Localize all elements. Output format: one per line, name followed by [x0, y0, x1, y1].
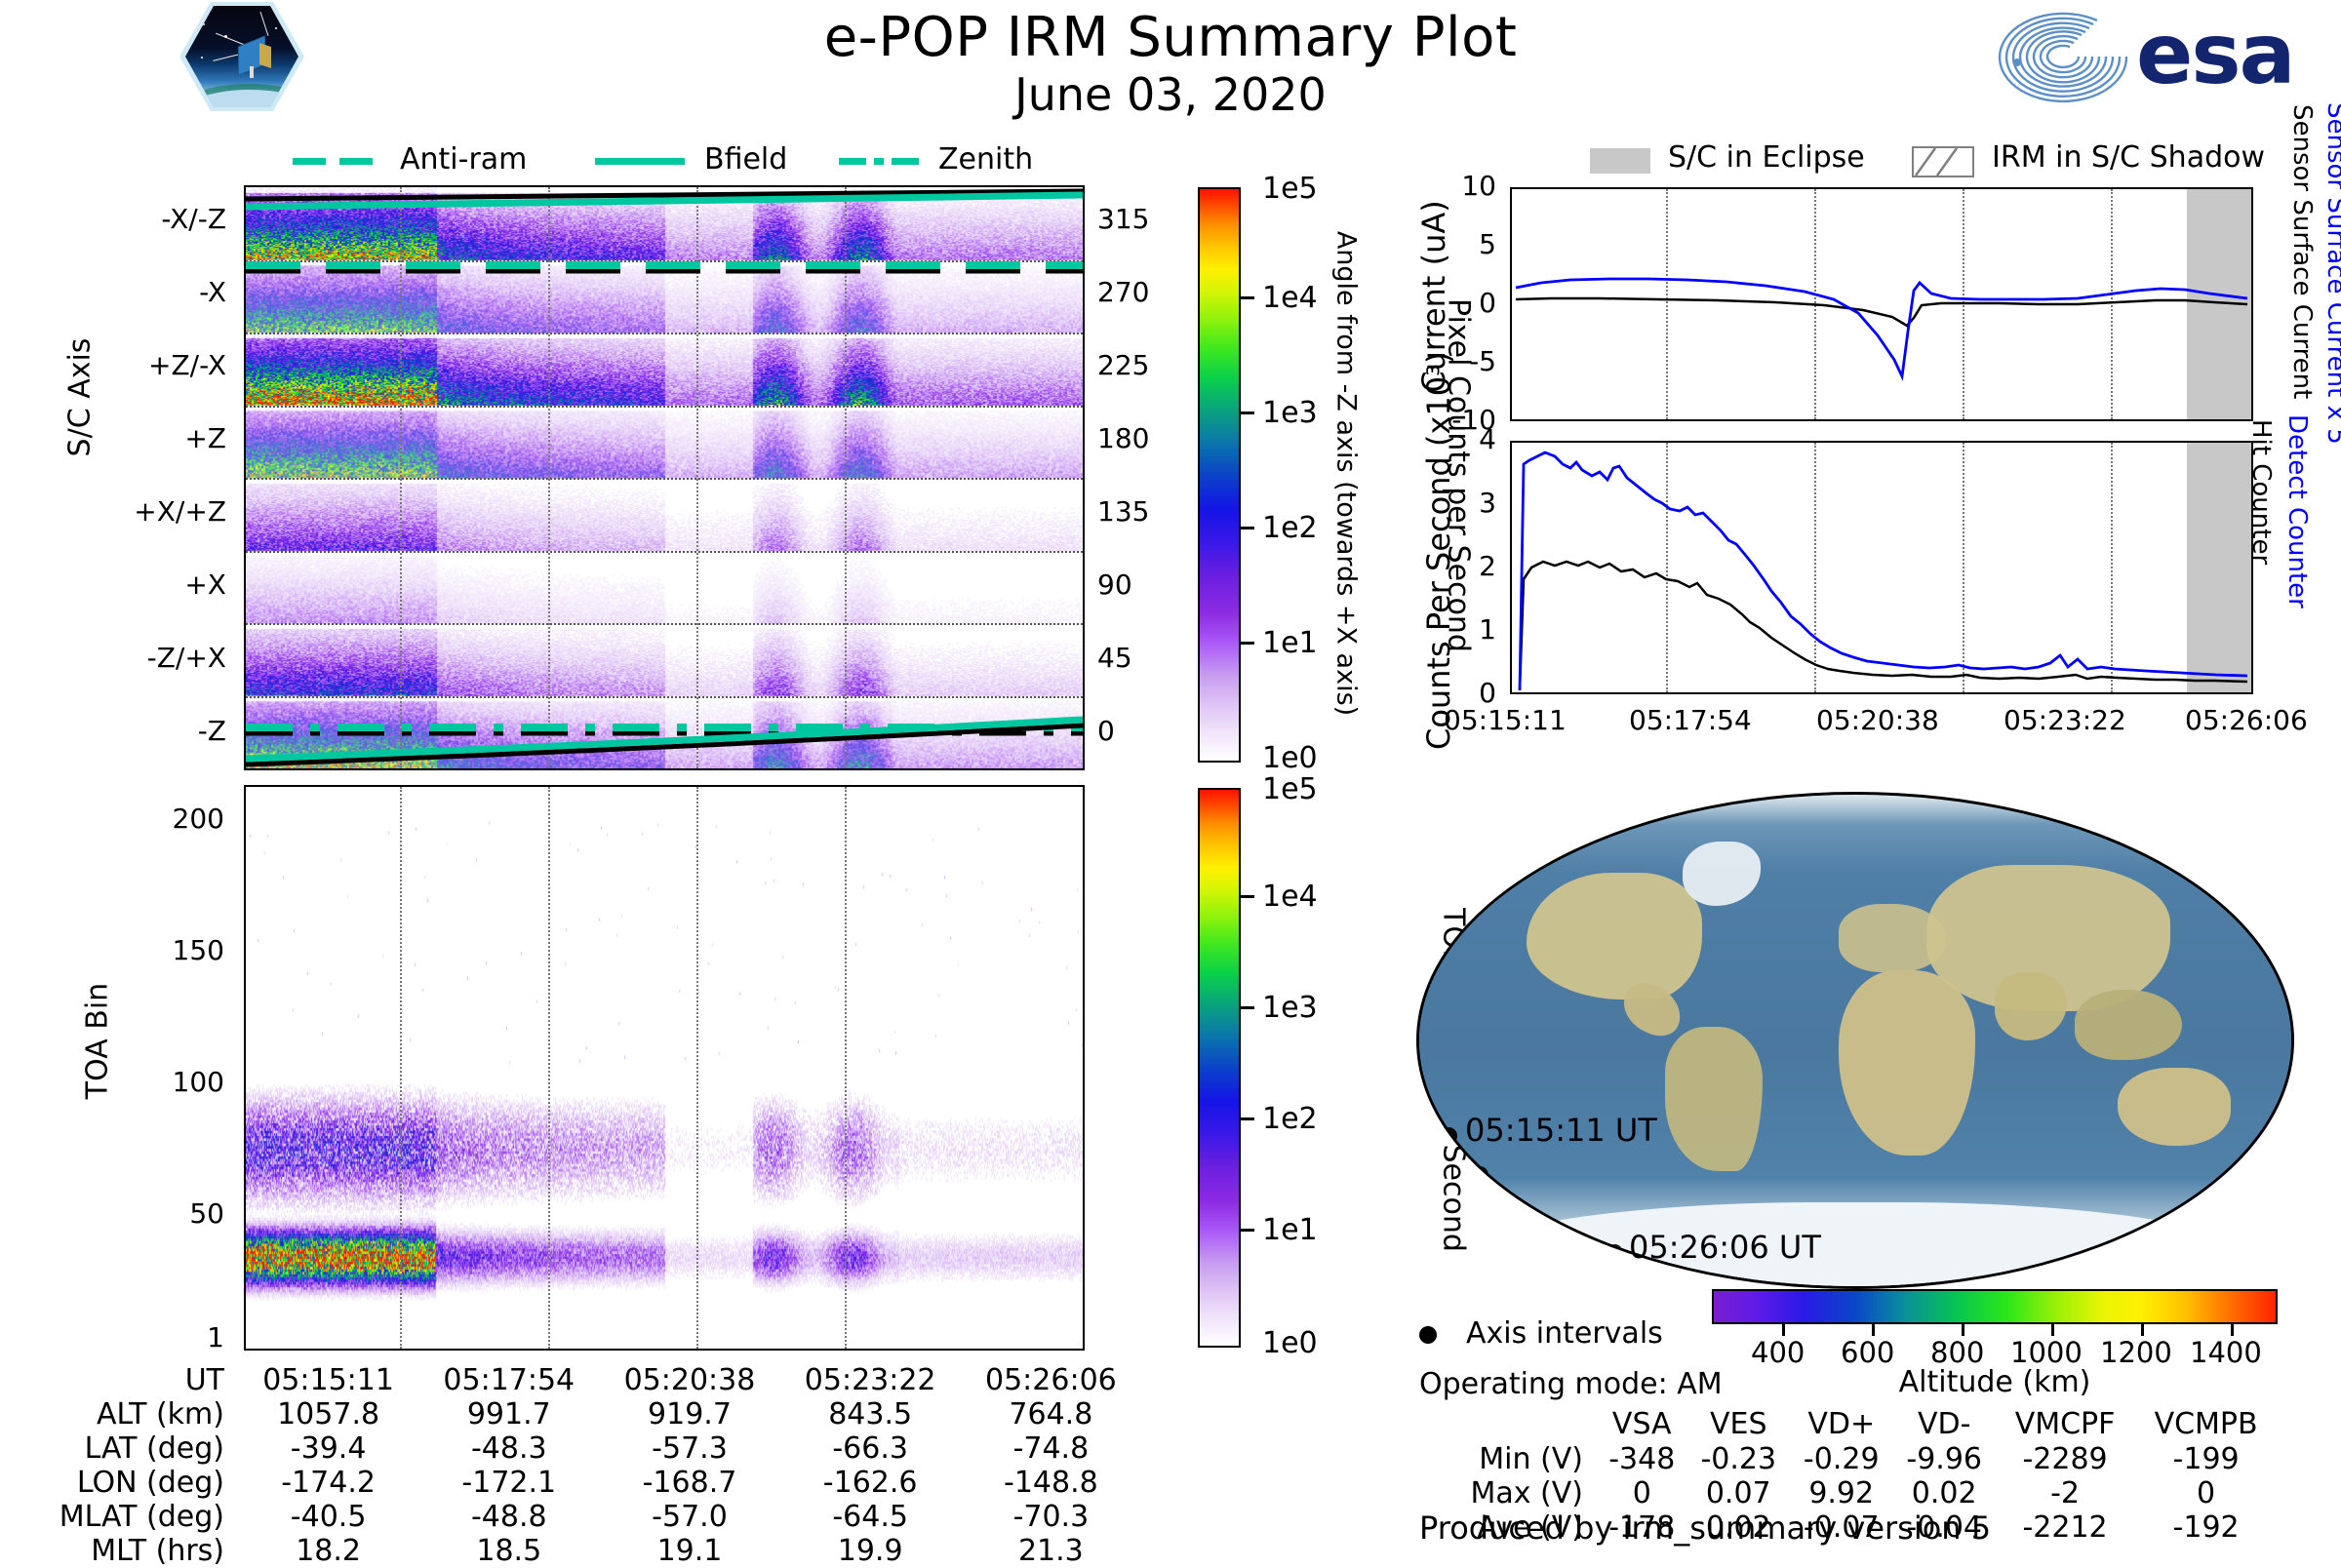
time-gridline [696, 787, 698, 1349]
tof-counts-colorbar-ticks: 1e5 1e4 1e3 1e2 1e1 1e0 [1241, 788, 1436, 1348]
ephem-ut-1: 05:17:54 [418, 1363, 599, 1397]
current-traces [1512, 189, 2251, 419]
esa-wordmark: esa [2136, 10, 2294, 99]
ephem-alt-3: 843.5 [780, 1397, 961, 1431]
map-end-label: 05:26:06 UT [1629, 1229, 1821, 1266]
spectrogram-angle-135: 135 [1097, 495, 1149, 528]
table-row: Min (V) -348 -0.23 -0.29 -9.96 -2289 -19… [1419, 1442, 2278, 1476]
ground-track-map[interactable]: 05:15:11 UT 05:26:06 UT [1416, 792, 2294, 1289]
toa-ytick-1: 1 [207, 1321, 224, 1353]
volt-col-vcmpb: VCMPB [2134, 1406, 2278, 1442]
ephem-mlt-1: 18.5 [418, 1534, 599, 1568]
volt-min-vdminus: -9.96 [1892, 1442, 1995, 1476]
spectrogram-angle-315: 315 [1097, 203, 1149, 235]
ephem-row-label-mlt: MLT (hrs) [39, 1534, 238, 1568]
volt-max-vsa: 0 [1597, 1476, 1687, 1510]
current-ytick-0: 0 [1479, 287, 1496, 319]
axis-intervals-label: Axis intervals [1466, 1316, 1663, 1351]
current-ytick-5: 5 [1479, 228, 1496, 260]
ephem-ut-3: 05:23:22 [780, 1363, 961, 1397]
altitude-tick-800: 800 [1930, 1336, 1984, 1369]
esa-logo: esa [1990, 6, 2331, 107]
altitude-colorbar-ticks: 400 600 800 1000 1200 1400 [1712, 1324, 2297, 1367]
time-tick-2: 05:20:38 [1816, 704, 1939, 736]
volt-col-vsa: VSA [1597, 1406, 1687, 1442]
hatch-pattern-icon [1914, 148, 1972, 176]
ephem-alt-1: 991.7 [418, 1397, 599, 1431]
toa-ytick-200: 200 [173, 803, 224, 835]
volt-ave-vcmpb: -192 [2134, 1510, 2278, 1545]
ephem-mlat-3: -64.5 [780, 1500, 961, 1534]
toa-ytick-labels: 200 150 100 50 1 [88, 785, 234, 1351]
table-row: MLAT (deg) -40.5 -48.8 -57.0 -64.5 -70.3 [39, 1500, 1141, 1534]
tof-cb-1e1: 1e1 [1262, 1213, 1318, 1247]
bfield-legend-label: Bfield [704, 142, 787, 176]
ephem-mlt-4: 21.3 [961, 1534, 1141, 1568]
volt-max-vcmpb: 0 [2134, 1476, 2278, 1510]
table-row: UT 05:15:11 05:17:54 05:20:38 05:23:22 0… [39, 1363, 1141, 1397]
volt-row-label-min: Min (V) [1419, 1442, 1597, 1476]
ephem-alt-4: 764.8 [961, 1397, 1141, 1431]
volt-ave-vmcpf: -2212 [1996, 1510, 2134, 1545]
spectrogram-ytick-4: +X/+Z [134, 495, 226, 528]
volt-min-vdplus: -0.29 [1790, 1442, 1892, 1476]
pixel-cb-1e4: 1e4 [1262, 281, 1318, 315]
time-tick-1: 05:17:54 [1629, 704, 1752, 736]
ephem-ut-2: 05:20:38 [599, 1363, 779, 1397]
spectrogram-ytick-5: +X [184, 568, 226, 601]
right-time-axis: 05:15:11 05:17:54 05:20:38 05:23:22 05:2… [1385, 704, 2341, 747]
table-header-row: VSA VES VD+ VD- VMCPF VCMPB [1419, 1406, 2278, 1442]
ephem-mlt-0: 18.2 [238, 1534, 418, 1568]
pixel-cb-1e3: 1e3 [1262, 396, 1318, 430]
ephem-mlat-0: -40.5 [238, 1500, 418, 1534]
table-row: ALT (km) 1057.8 991.7 919.7 843.5 764.8 [39, 1397, 1141, 1431]
ephem-lon-1: -172.1 [418, 1466, 599, 1500]
orbit-track [1419, 795, 2294, 1289]
axis-interval-dot-icon [1419, 1326, 1437, 1344]
spectrogram-angle-180: 180 [1097, 422, 1149, 454]
volt-max-vmcpf: -2 [1996, 1476, 2134, 1510]
altitude-colorbar-label: Altitude (km) [1712, 1365, 2278, 1399]
pixel-cb-1e1: 1e1 [1262, 626, 1318, 660]
ephem-row-label-alt: ALT (km) [39, 1397, 238, 1431]
toa-ytick-150: 150 [173, 934, 224, 966]
volt-min-vcmpb: -199 [2134, 1442, 2278, 1476]
spectrogram-legend: Anti-ram Bfield Zenith [293, 146, 995, 181]
volt-row-label-max: Max (V) [1419, 1476, 1597, 1510]
counts-ytick-4: 4 [1479, 423, 1496, 455]
zenith-legend-dot [874, 158, 884, 165]
ephem-lat-2: -57.3 [599, 1431, 779, 1466]
tof-cb-1e3: 1e3 [1262, 991, 1318, 1025]
ephem-lat-4: -74.8 [961, 1431, 1141, 1466]
ephem-lat-0: -39.4 [238, 1431, 418, 1466]
sensor-surface-current-plot[interactable] [1510, 187, 2253, 421]
toa-bin-plot[interactable] [244, 785, 1085, 1351]
spectrogram-ytick-7: -Z [198, 715, 226, 747]
spectrogram-overlay-traces [246, 187, 1083, 768]
counts-right-label-black: Hit Counter [2246, 419, 2276, 673]
ephem-ut-0: 05:15:11 [238, 1363, 418, 1397]
tof-counts-colorbar [1198, 788, 1241, 1348]
ephem-mlat-1: -48.8 [418, 1500, 599, 1534]
tof-cb-1e0: 1e0 [1262, 1326, 1318, 1360]
ephem-ut-4: 05:26:06 [961, 1363, 1141, 1397]
counts-ytick-2: 2 [1479, 550, 1496, 582]
altitude-tick-1400: 1400 [2190, 1336, 2262, 1369]
time-gridline [548, 787, 550, 1349]
volt-col-vmcpf: VMCPF [1996, 1406, 2134, 1442]
spectrogram-ytick-labels: -X/-Z -X +Z/-X +Z +X/+Z +X -Z/+X -Z [88, 185, 234, 770]
spectrogram-ytick-3: +Z [184, 422, 226, 454]
ephem-lat-1: -48.3 [418, 1431, 599, 1466]
ephem-mlt-3: 19.9 [780, 1534, 961, 1568]
current-ytick-10: 10 [1461, 170, 1496, 202]
counts-right-label-blue: Detect Counter [2282, 414, 2312, 707]
anti-ram-legend-label: Anti-ram [400, 142, 527, 176]
spectrogram-angle-45: 45 [1097, 642, 1132, 674]
angle-spectrogram-plot[interactable] [244, 185, 1085, 770]
altitude-tick-400: 400 [1751, 1336, 1805, 1369]
ephem-mlat-4: -70.3 [961, 1500, 1141, 1534]
table-row: LAT (deg) -39.4 -48.3 -57.3 -66.3 -74.8 [39, 1431, 1141, 1466]
tof-cb-1e4: 1e4 [1262, 880, 1318, 914]
volt-col-vdplus: VD+ [1790, 1406, 1892, 1442]
ephem-lon-2: -168.7 [599, 1466, 779, 1500]
altitude-colorbar [1712, 1289, 2278, 1324]
spectrogram-ytick-2: +Z/-X [148, 349, 226, 381]
toa-spectrogram-image [246, 787, 1083, 1349]
time-gridline [400, 787, 402, 1349]
ephem-alt-0: 1057.8 [238, 1397, 418, 1431]
volt-min-vsa: -348 [1597, 1442, 1687, 1476]
altitude-tick-1000: 1000 [2010, 1336, 2083, 1369]
table-row: MLT (hrs) 18.2 18.5 19.1 19.9 21.3 [39, 1534, 1141, 1568]
volt-col-vdminus: VD- [1892, 1406, 1995, 1442]
table-row: LON (deg) -174.2 -172.1 -168.7 -162.6 -1… [39, 1466, 1141, 1500]
zenith-legend-line-2 [892, 158, 919, 165]
esa-swirl-icon [1990, 8, 2136, 105]
cassiope-logo [178, 2, 306, 111]
counts-per-second-plot[interactable] [1510, 441, 2253, 694]
pixel-counts-colorbar [1198, 187, 1241, 763]
volt-col-ves: VES [1687, 1406, 1790, 1442]
time-gridline [845, 787, 847, 1349]
spectrogram-ytick-1: -X [199, 276, 226, 308]
time-tick-0: 05:15:11 [1444, 704, 1567, 736]
current-ytick-neg5: -5 [1469, 345, 1496, 377]
anti-ram-legend-line [293, 158, 326, 165]
ephem-row-label-lon: LON (deg) [39, 1466, 238, 1500]
volt-min-vmcpf: -2289 [1996, 1442, 2134, 1476]
toa-ytick-50: 50 [189, 1197, 224, 1230]
volt-max-vdplus: 9.92 [1790, 1476, 1892, 1510]
spectrogram-ytick-0: -X/-Z [161, 203, 226, 235]
pixel-cb-1e2: 1e2 [1262, 511, 1318, 545]
ephem-alt-2: 919.7 [599, 1397, 779, 1431]
pixel-cb-1e0: 1e0 [1262, 741, 1318, 775]
volt-max-ves: 0.07 [1687, 1476, 1790, 1510]
sc-eclipse-swatch [1590, 148, 1650, 174]
current-right-label-blue: Sensor Surface Current x 5 [2321, 102, 2341, 512]
irm-shadow-swatch [1912, 146, 1974, 177]
toa-ytick-100: 100 [173, 1066, 224, 1098]
altitude-tick-600: 600 [1841, 1336, 1894, 1369]
spectrogram-angle-270: 270 [1097, 276, 1149, 308]
volt-max-vdminus: 0.02 [1892, 1476, 1995, 1510]
counts-ytick-1: 1 [1479, 613, 1496, 646]
tof-cb-1e2: 1e2 [1262, 1102, 1318, 1136]
spectrogram-ytick-6: -Z/+X [147, 642, 226, 674]
ephemeris-table: UT 05:15:11 05:17:54 05:20:38 05:23:22 0… [39, 1363, 1141, 1568]
ephem-lon-3: -162.6 [780, 1466, 961, 1500]
counts-ytick-3: 3 [1479, 487, 1496, 519]
counts-traces [1512, 443, 2251, 692]
produced-by-footer: Produced by irm_summary version 5 [1419, 1509, 1991, 1547]
ephem-lon-4: -148.8 [961, 1466, 1141, 1500]
time-tick-3: 05:23:22 [2004, 704, 2126, 736]
ephem-mlt-2: 19.1 [599, 1534, 779, 1568]
ephem-mlat-2: -57.0 [599, 1500, 779, 1534]
ephem-row-label-lat: LAT (deg) [39, 1431, 238, 1466]
map-start-label: 05:15:11 UT [1465, 1112, 1657, 1149]
ephem-row-label-mlat: MLAT (deg) [39, 1500, 238, 1534]
bfield-legend-line [595, 158, 685, 165]
anti-ram-legend-line-2 [339, 158, 373, 165]
spectrogram-angle-225: 225 [1097, 349, 1149, 381]
ephem-row-label-ut: UT [39, 1363, 238, 1397]
tof-cb-1e5: 1e5 [1262, 772, 1318, 806]
volt-min-ves: -0.23 [1687, 1442, 1790, 1476]
ephem-lon-0: -174.2 [238, 1466, 418, 1500]
irm-shadow-label: IRM in S/C Shadow [1992, 140, 2265, 175]
time-tick-4: 05:26:06 [2185, 704, 2308, 736]
operating-mode-label: Operating mode: AM [1419, 1367, 1723, 1401]
table-row: Max (V) 0 0.07 9.92 0.02 -2 0 [1419, 1476, 2278, 1510]
eclipse-legend: S/C in Eclipse IRM in S/C Shadow [1590, 144, 2312, 179]
pixel-cb-1e5: 1e5 [1262, 172, 1318, 206]
spectrogram-angle-90: 90 [1097, 568, 1132, 601]
spectrogram-angle-0: 0 [1097, 715, 1115, 747]
zenith-legend-line [839, 158, 866, 165]
sc-eclipse-label: S/C in Eclipse [1668, 140, 1865, 175]
altitude-tick-1200: 1200 [2100, 1336, 2172, 1369]
zenith-legend-label: Zenith [938, 142, 1033, 176]
ephem-lat-3: -66.3 [780, 1431, 961, 1466]
counts-ytick-labels: 4 3 2 1 0 [1385, 441, 1502, 694]
